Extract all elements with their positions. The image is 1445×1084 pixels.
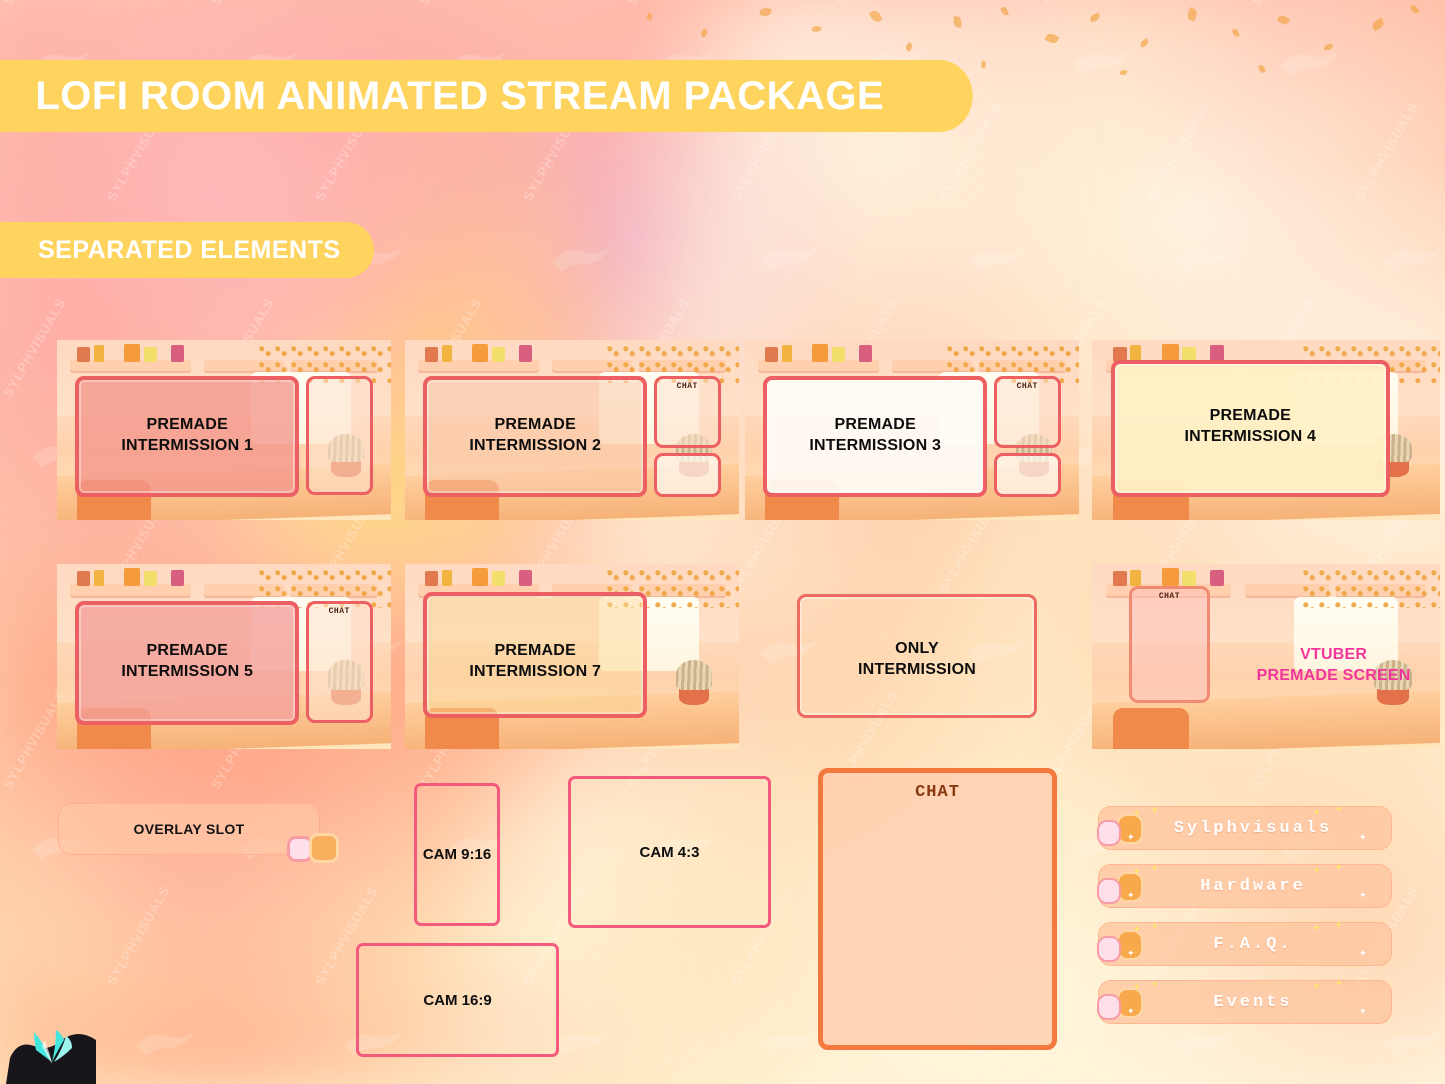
side-chat-panel[interactable] [306, 376, 373, 495]
card-caption: PREMADE INTERMISSION 2 [423, 414, 647, 457]
leaf-icon [759, 7, 771, 17]
leaf-icon [1277, 14, 1291, 27]
cam-frame-16-9-label: CAM 16:9 [423, 992, 491, 1009]
watermark-text: SYLPHVISUALS [832, 1079, 901, 1084]
leaf-icon [904, 42, 913, 52]
watermark-text: SYLPHVISUALS [416, 1079, 485, 1084]
side-secondary-panel[interactable] [654, 453, 721, 496]
room-book [472, 568, 489, 587]
room-book [519, 570, 532, 587]
watermark-text: SYLPHVISUALS [104, 883, 173, 987]
side-button-label: F.A.Q. [1197, 935, 1292, 954]
chat-label: CHAT [657, 382, 718, 391]
room-book [832, 347, 845, 361]
watermark-bird-icon [758, 1026, 820, 1060]
sparkle-icon: ✦ [1335, 979, 1343, 988]
watermark-bird-icon [1174, 242, 1236, 276]
cam-frame-16-9[interactable]: CAM 16:9 [356, 943, 559, 1057]
leaf-icon [1000, 6, 1009, 17]
side-button-label: Events [1197, 993, 1292, 1012]
card-caption: PREMADE INTERMISSION 3 [763, 414, 987, 457]
leaf-icon [1139, 38, 1150, 48]
watermark-text: SYLPHVISUALS [1248, 1079, 1317, 1084]
side-button-badge-pink [1097, 936, 1121, 962]
room-book [171, 570, 184, 587]
logo-icon [0, 1010, 96, 1084]
cam-frame-4-3-label: CAM 4:3 [639, 844, 699, 861]
room-chair [1113, 708, 1190, 749]
room-book [442, 570, 452, 587]
watermark-bird-icon [758, 242, 820, 276]
chat-label: CHAT [309, 607, 370, 616]
room-book [492, 347, 505, 361]
card-caption: VTUBER PREMADE SCREEN [1231, 644, 1436, 687]
intermission-card[interactable]: CHATPREMADE INTERMISSION 3 [745, 340, 1079, 520]
leaf-icon [699, 28, 709, 38]
intermission-card[interactable]: PREMADE INTERMISSION 1 [57, 340, 391, 520]
cam-frame-9-16-label: CAM 9:16 [423, 846, 491, 863]
sparkle-icon: ✦ [1151, 864, 1159, 873]
sparkle-icon: ✦ [1335, 805, 1343, 814]
side-button-events[interactable]: Events✦✦✦✦✦✦ [1098, 980, 1392, 1024]
room-book [1162, 344, 1179, 362]
sparkle-icon: ✦ [1359, 1007, 1367, 1016]
room-book [782, 345, 792, 361]
watermark-text: SYLPHVISUALS [832, 0, 901, 8]
sparkle-icon: ✦ [1151, 922, 1159, 931]
watermark-text: SYLPHVISUALS [1352, 99, 1421, 203]
watermark-bird-icon [1070, 46, 1132, 80]
watermark-text: SYLPHVISUALS [208, 0, 277, 8]
room-book [472, 344, 489, 362]
room-book [1182, 571, 1196, 586]
watermark-text: SYLPHVISUALS [208, 1079, 277, 1084]
leaf-icon [1186, 7, 1198, 21]
sparkle-icon: ✦ [1335, 863, 1343, 872]
side-button-label: Sylphvisuals [1158, 819, 1332, 838]
room-book [77, 347, 90, 361]
sparkle-icon: ✦ [1335, 921, 1343, 930]
watermark-bird-icon [1278, 46, 1340, 80]
watermark-bird-icon [1382, 242, 1444, 276]
watermark-text: SYLPHVISUALS [624, 0, 693, 8]
leaf-icon [1258, 64, 1266, 73]
side-button-hardware[interactable]: Hardware✦✦✦✦✦✦ [1098, 864, 1392, 908]
leaf-icon [1371, 18, 1386, 31]
leaf-icon [1120, 69, 1128, 75]
chat-label: CHAT [1132, 592, 1208, 601]
leaf-icon [869, 9, 882, 24]
card-caption: PREMADE INTERMISSION 4 [1111, 405, 1389, 448]
leaf-icon [1409, 4, 1419, 15]
room-book [1113, 571, 1127, 586]
room-book [859, 345, 872, 361]
sylphvisuals-logo [0, 1010, 96, 1084]
room-book [492, 571, 505, 586]
room-book [1210, 570, 1224, 587]
side-button-badge-pink [1097, 820, 1121, 846]
room-plant-leaves [676, 660, 713, 690]
room-vines [1301, 568, 1440, 609]
room-book [519, 345, 532, 361]
room-shelf [70, 584, 190, 596]
side-button-label: Hardware [1184, 877, 1306, 896]
page-title: LOFI ROOM ANIMATED STREAM PACKAGE [35, 74, 884, 119]
watermark-bird-icon [1382, 1026, 1444, 1060]
page-title-banner: LOFI ROOM ANIMATED STREAM PACKAGE [0, 60, 973, 132]
card-caption: ONLY INTERMISSION [793, 638, 1041, 681]
intermission-card[interactable]: PREMADE INTERMISSION 4 [1092, 340, 1440, 520]
overlay-slot-label: OVERLAY SLOT [134, 821, 245, 837]
intermission-card[interactable]: PREMADE INTERMISSION 7 [405, 564, 739, 749]
sparkle-icon: ✦ [1313, 866, 1321, 875]
sparkle-icon: ✦ [1359, 949, 1367, 958]
room-book [94, 345, 104, 361]
intermission-card[interactable]: CHATPREMADE INTERMISSION 5 [57, 564, 391, 749]
chat-panel-title: CHAT [823, 783, 1052, 802]
card-caption: PREMADE INTERMISSION 5 [75, 640, 299, 683]
sparkle-icon: ✦ [1359, 891, 1367, 900]
side-button-sylphvisuals[interactable]: Sylphvisuals✦✦✦✦✦✦ [1098, 806, 1392, 850]
room-book [144, 571, 157, 586]
overlay-slot-badge-orange [309, 833, 339, 863]
room-book [1162, 568, 1179, 587]
room-book [77, 571, 90, 586]
watermark-text: SYLPHVISUALS [1040, 0, 1109, 8]
side-chat-panel[interactable]: CHAT [306, 601, 373, 723]
section-header-banner: SEPARATED ELEMENTS [0, 222, 374, 278]
sparkle-icon: ✦ [1359, 833, 1367, 842]
room-book [442, 345, 452, 361]
cam-frame-4-3[interactable]: CAM 4:3 [568, 776, 771, 928]
leaf-icon [646, 12, 653, 20]
side-chat-panel[interactable]: CHAT [654, 376, 721, 448]
cam-frame-9-16[interactable]: CAM 9:16 [414, 783, 500, 926]
leaf-icon [1089, 13, 1101, 23]
leaf-icon [953, 16, 962, 28]
room-book [124, 568, 141, 587]
leaf-icon [980, 60, 987, 68]
sparkle-icon: ✦ [1313, 924, 1321, 933]
watermark-bird-icon [966, 242, 1028, 276]
watermark-bird-icon [1174, 1026, 1236, 1060]
intermission-card[interactable]: CHATVTUBER PREMADE SCREEN [1092, 564, 1440, 749]
watermark-text: SYLPHVISUALS [1144, 99, 1213, 203]
room-book [144, 347, 157, 361]
chat-label: CHAT [997, 382, 1058, 391]
watermark-text: SYLPHVISUALS [1248, 0, 1317, 8]
watermark-text: SYLPHVISUALS [624, 1079, 693, 1084]
room-book [171, 345, 184, 361]
side-chat-panel[interactable]: CHAT [1129, 586, 1211, 703]
card-caption: PREMADE INTERMISSION 7 [423, 640, 647, 683]
side-button-f-a-q[interactable]: F.A.Q.✦✦✦✦✦✦ [1098, 922, 1392, 966]
watermark-text: SYLPHVISUALS [416, 0, 485, 8]
room-book [425, 571, 438, 586]
intermission-card[interactable]: CHATPREMADE INTERMISSION 2 [405, 340, 739, 520]
room-book [1130, 570, 1140, 587]
overlay-slot-frame[interactable]: OVERLAY SLOT [58, 803, 320, 855]
side-button-badge-pink [1097, 994, 1121, 1020]
leaf-icon [811, 25, 821, 33]
side-secondary-panel[interactable] [994, 453, 1061, 496]
sparkle-icon: ✦ [1151, 806, 1159, 815]
room-book [94, 570, 104, 587]
watermark-text: SYLPHVISUALS [0, 0, 69, 8]
sparkle-icon: ✦ [1151, 980, 1159, 989]
watermark-bird-icon [550, 1026, 612, 1060]
watermark-bird-icon [550, 242, 612, 276]
chat-panel[interactable]: CHAT [818, 768, 1057, 1050]
room-book [765, 347, 778, 361]
room-book [812, 344, 829, 362]
leaf-icon [1324, 44, 1333, 51]
side-chat-panel[interactable]: CHAT [994, 376, 1061, 448]
intermission-card[interactable]: ONLY INTERMISSION [793, 590, 1041, 722]
watermark-bird-icon [134, 1026, 196, 1060]
sparkle-icon: ✦ [1313, 982, 1321, 991]
sparkle-icon: ✦ [1313, 808, 1321, 817]
leaf-icon [1232, 28, 1240, 37]
side-button-badge-pink [1097, 878, 1121, 904]
stream-package-preview: SYLPHVISUALSSYLPHVISUALSSYLPHVISUALSSYLP… [0, 0, 1445, 1084]
watermark-text: SYLPHVISUALS [1040, 1079, 1109, 1084]
room-book [124, 344, 141, 362]
room-book [425, 347, 438, 361]
leaf-icon [1045, 31, 1060, 45]
card-caption: PREMADE INTERMISSION 1 [75, 414, 299, 457]
section-title: SEPARATED ELEMENTS [38, 236, 341, 265]
